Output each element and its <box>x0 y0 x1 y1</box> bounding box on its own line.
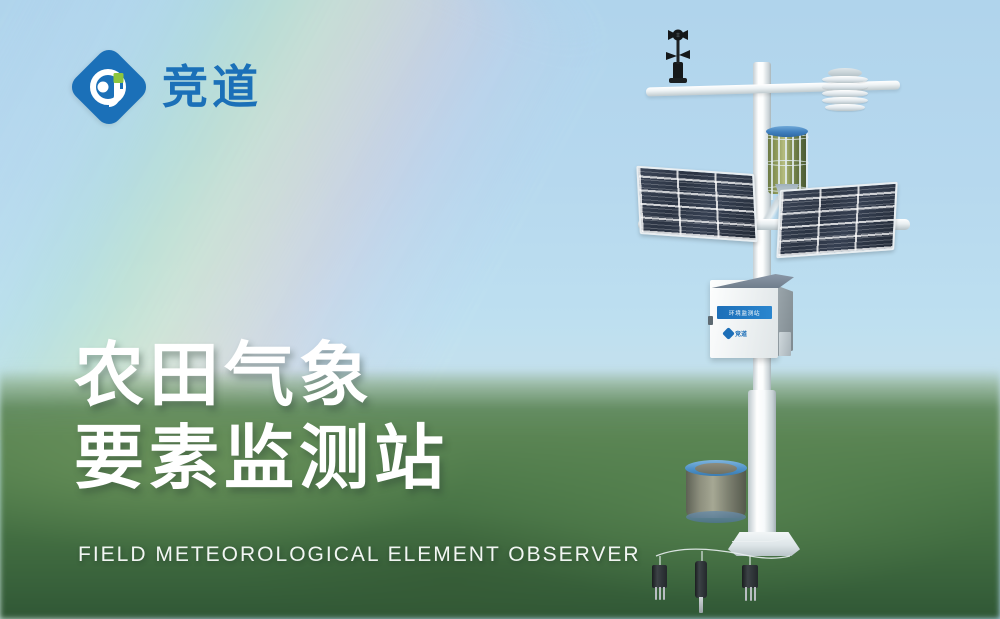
wind-sensor-icon <box>658 24 698 86</box>
evap-hoop <box>765 160 809 166</box>
title-line-1: 农田气象 <box>74 334 374 416</box>
probe-housing <box>695 561 707 598</box>
control-box-latch <box>708 316 713 325</box>
page-subtitle: FIELD METEOROLOGICAL ELEMENT OBSERVER <box>78 543 641 567</box>
rain-gauge-funnel <box>695 463 737 474</box>
jingdao-diamond-logo-icon <box>70 48 148 126</box>
page-title: 农田气象 要素监测站 <box>74 334 449 499</box>
probe-prong <box>754 587 756 601</box>
probe-tip <box>699 597 703 613</box>
probe-housing <box>742 565 758 588</box>
shield-plate <box>822 83 868 90</box>
probe-prong <box>659 587 661 600</box>
shield-plate <box>825 104 865 111</box>
solar-panel-cells <box>636 166 757 243</box>
sensor-cable <box>732 512 792 542</box>
radiation-shield-icon <box>822 70 868 118</box>
control-box-logo-text: 竞道 <box>735 329 747 338</box>
control-box-face <box>710 280 778 358</box>
probe-prong <box>663 587 665 600</box>
shield-plate <box>822 76 868 83</box>
control-box-brand-logo: 竞道 <box>724 329 747 338</box>
probe-prong <box>655 587 657 600</box>
control-box-label-text: 环境监测站 <box>729 308 760 317</box>
control-box-label-band: 环境监测站 <box>717 306 772 319</box>
poster-canvas: 竞道 农田气象 要素监测站 FIELD METEOROLOGICAL ELEME… <box>0 0 1000 619</box>
solar-panel-cells <box>776 182 897 259</box>
soil-sensor-wiring <box>650 540 800 610</box>
brand-name: 竞道 <box>162 64 262 110</box>
control-box: 环境监测站 竞道 <box>710 272 794 360</box>
title-line-2: 要素监测站 <box>74 417 449 500</box>
weather-station-illustration: 环境监测站 竞道 <box>600 0 1000 619</box>
control-box-vent <box>779 332 791 356</box>
solar-panel-left <box>636 166 757 243</box>
soil-sensor-group <box>650 540 790 610</box>
probe-prong <box>750 587 752 601</box>
evap-top-cap <box>766 126 808 137</box>
probe-prong <box>745 587 747 601</box>
logo-glyph-icon <box>70 48 148 126</box>
solar-panel-right <box>776 182 897 259</box>
probe-housing <box>652 565 667 588</box>
shield-plate <box>822 97 868 104</box>
brand-logo: 竞道 <box>70 48 262 126</box>
control-box-logo-icon <box>722 327 735 340</box>
shield-plate <box>822 90 868 97</box>
